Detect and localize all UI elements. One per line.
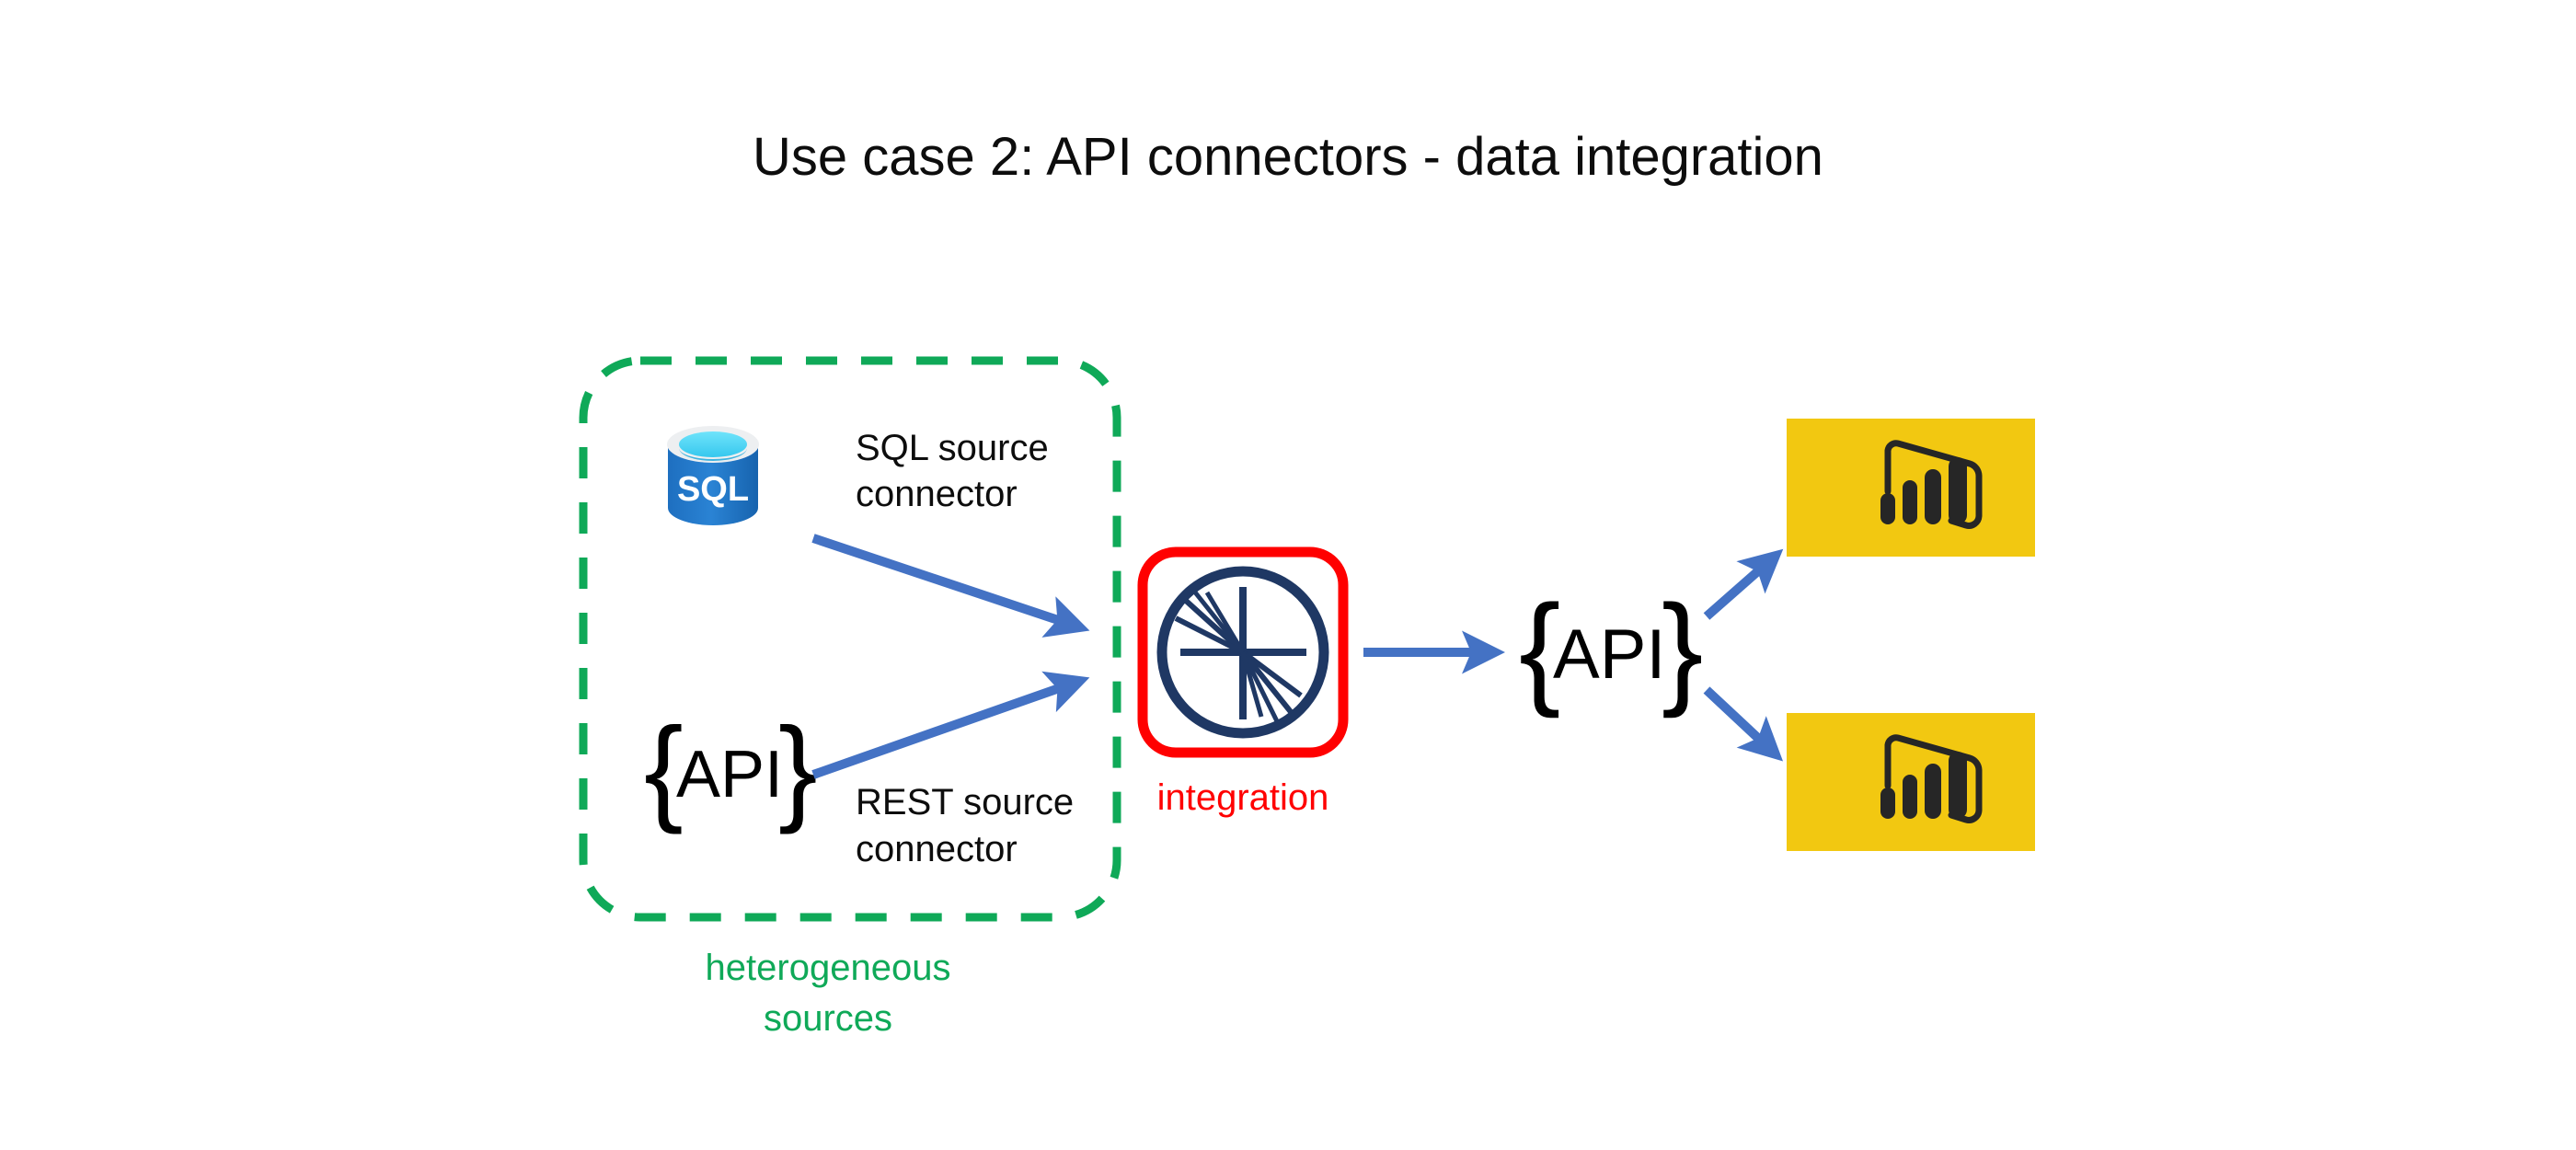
api-gateway-label: API	[1553, 615, 1666, 694]
arrow-sql-to-integration	[813, 538, 1080, 627]
arrow-api-to-powerbi-top	[1707, 556, 1776, 616]
api-source-label: API	[676, 738, 783, 811]
api-gateway-brace-right: }	[1662, 579, 1703, 719]
api-braces-icon-source: { API }	[644, 704, 818, 835]
integration-node[interactable]	[1143, 552, 1343, 753]
sql-icon-label: SQL	[677, 470, 749, 509]
group-label-line2: sources	[764, 998, 892, 1039]
sql-database-icon: SQL	[667, 426, 759, 525]
diagram-canvas: Use case 2: API connectors - data integr…	[0, 0, 2576, 1150]
powerbi-target-top[interactable]	[1787, 419, 2035, 557]
arrow-api-to-powerbi-bottom	[1707, 690, 1776, 754]
sql-connector-label-line2: connector	[856, 474, 1018, 514]
api-braces-icon-gateway: { API }	[1519, 579, 1703, 719]
powerbi-target-bottom[interactable]	[1787, 713, 2035, 851]
rest-connector-label-line2: connector	[856, 829, 1018, 869]
use-case-diagram: Use case 2: API connectors - data integr…	[0, 0, 2576, 1150]
api-brace-right: }	[778, 704, 818, 835]
arrow-rest-to-integration	[813, 681, 1080, 775]
integration-label: integration	[1157, 777, 1329, 818]
group-label-line1: heterogeneous	[706, 948, 951, 988]
page-title: Use case 2: API connectors - data integr…	[753, 127, 1823, 187]
rest-connector-label-line1: REST source	[856, 782, 1074, 822]
sql-connector-label-line1: SQL source	[856, 428, 1049, 468]
